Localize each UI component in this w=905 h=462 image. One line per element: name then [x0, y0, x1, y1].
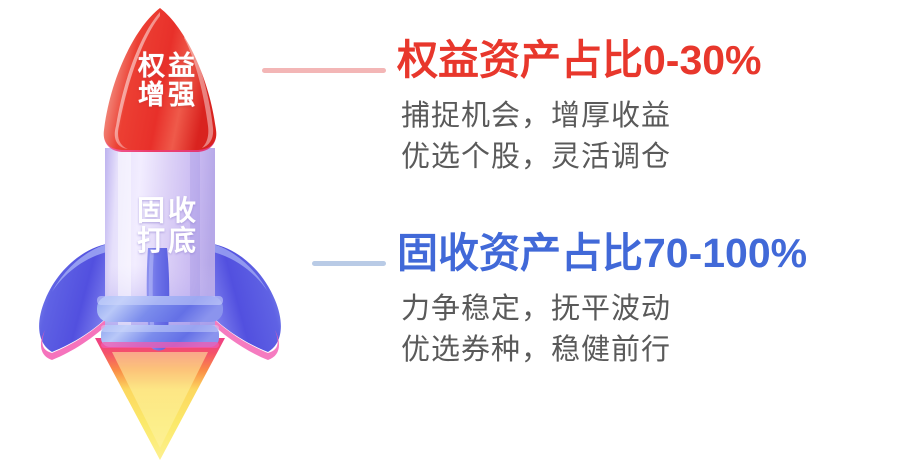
equity-heading: 权益资产占比0-30%: [397, 38, 762, 84]
rocket-bands: [97, 296, 223, 348]
equity-description: 捕捉机会，增厚收益 优选个股，灵活调仓: [401, 96, 762, 178]
equity-description-line-1: 捕捉机会，增厚收益: [401, 96, 762, 137]
fixed-income-description-line-1: 力争稳定，抚平波动: [401, 289, 807, 330]
equity-allocation-block: 权益资产占比0-30% 捕捉机会，增厚收益 优选个股，灵活调仓: [397, 38, 762, 178]
rocket-nose-cone: [104, 8, 217, 152]
rocket-flame: [95, 338, 225, 460]
fixed-income-allocation-block: 固收资产占比70-100% 力争稳定，抚平波动 优选券种，稳健前行: [397, 231, 807, 371]
rocket-graphic: [0, 0, 300, 462]
fixed-income-description: 力争稳定，抚平波动 优选券种，稳健前行: [401, 289, 807, 371]
connector-line-equity: [262, 68, 386, 73]
connector-line-fixed: [312, 261, 386, 266]
rocket-illustration: 权益 增强 固收 打底: [0, 0, 300, 462]
asset-allocation-infographic: 权益 增强 固收 打底 权益资产占比0-30% 捕捉机会，增厚收益 优选个股，灵…: [0, 0, 905, 462]
fixed-income-heading: 固收资产占比70-100%: [397, 231, 807, 277]
fixed-income-description-line-2: 优选券种，稳健前行: [401, 330, 807, 371]
equity-description-line-2: 优选个股，灵活调仓: [401, 137, 762, 178]
